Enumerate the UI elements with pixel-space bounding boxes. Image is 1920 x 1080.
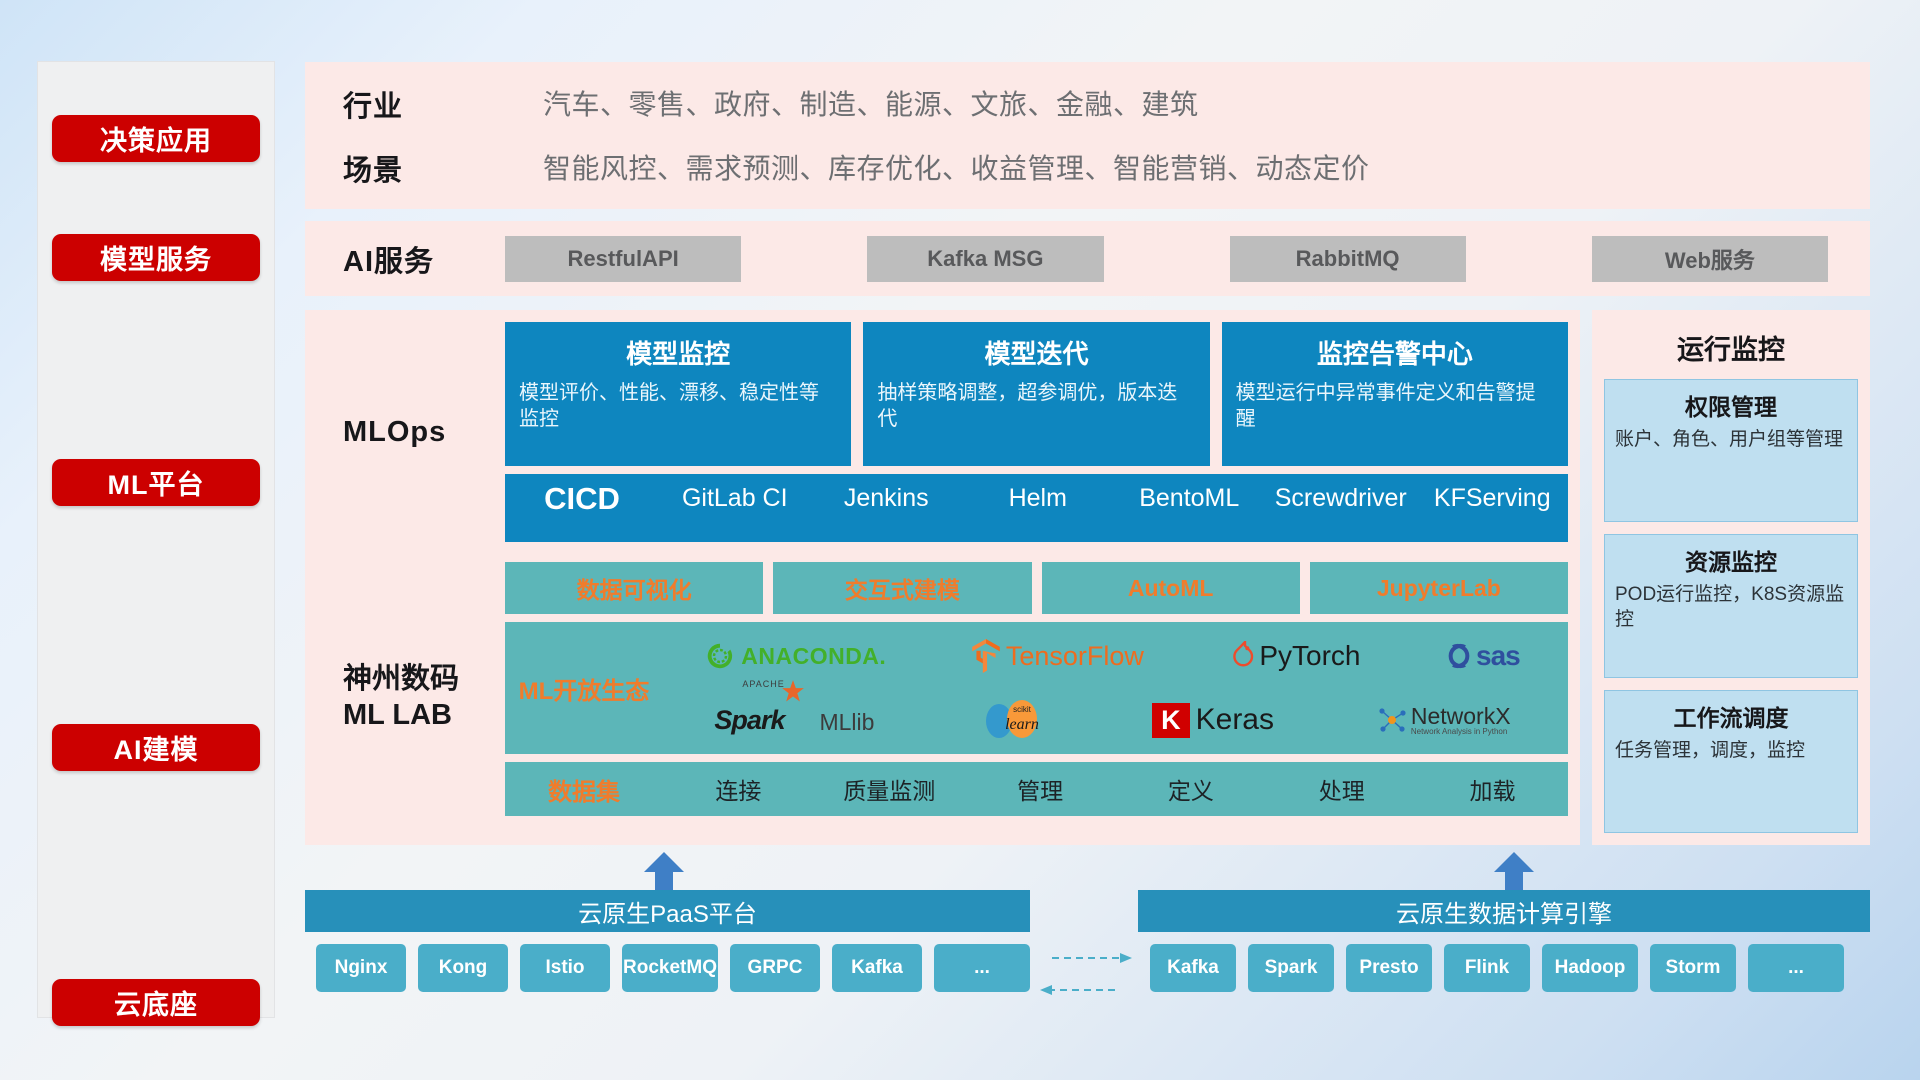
architecture-diagram: 决策应用 模型服务 ML平台 AI建模 云底座 行业 汽车、零售、政府、制造、能… [0, 0, 1920, 1080]
data-chip-presto[interactable]: Presto [1346, 944, 1432, 992]
ml-lab-band: 神州数码 ML LAB 数据可视化 交互式建模 AutoML JupyterLa… [305, 552, 1580, 845]
card-title: 工作流调度 [1615, 699, 1847, 733]
industry-value: 汽车、零售、政府、制造、能源、文旅、金融、建筑 [543, 83, 1870, 125]
cicd-item-gitlab-ci[interactable]: GitLab CI [659, 482, 811, 515]
cicd-item-helm[interactable]: Helm [962, 482, 1114, 515]
card-title: 权限管理 [1615, 388, 1847, 422]
card-desc: 任务管理，调度，监控 [1615, 739, 1847, 764]
rail-item-model-service[interactable]: 模型服务 [52, 234, 260, 281]
ml-open-ecosystem: ML开放生态 ANACONDA. TensorFlow [505, 622, 1568, 754]
ai-service-label: AI服务 [343, 238, 505, 280]
tensorflow-logo-icon: TensorFlow [971, 639, 1144, 673]
ai-service-box-web-service[interactable]: Web服务 [1592, 236, 1828, 282]
data-chip-kafka[interactable]: Kafka [1150, 944, 1236, 992]
scene-value: 智能风控、需求预测、库存优化、收益管理、智能营销、动态定价 [543, 147, 1870, 189]
card-desc: 模型评价、性能、漂移、稳定性等监控 [519, 380, 837, 432]
dataset-row: 数据集 连接 质量监测 管理 定义 处理 加载 [505, 762, 1568, 816]
cicd-item-screwdriver[interactable]: Screwdriver [1265, 482, 1417, 515]
ml-lab-label: 神州数码 ML LAB [343, 562, 505, 833]
monitoring-card-resource[interactable]: 资源监控 POD运行监控，K8S资源监控 [1604, 534, 1858, 677]
paas-chip-row: Nginx Kong Istio RocketMQ GRPC Kafka ... [316, 944, 1030, 992]
mlops-card-alert-center[interactable]: 监控告警中心 模型运行中异常事件定义和告警提醒 [1222, 322, 1568, 466]
card-title: 资源监控 [1615, 543, 1847, 577]
svg-text:scikit: scikit [1013, 705, 1032, 714]
mlops-band: MLOps 模型监控 模型评价、性能、漂移、稳定性等监控 模型迭代 抽样策略调整… [305, 310, 1580, 552]
ml-lab-label-line2: ML LAB [343, 699, 452, 731]
anaconda-logo-icon: ANACONDA. [705, 641, 886, 671]
dataset-item-quality-monitoring[interactable]: 质量监测 [814, 772, 965, 806]
rail-item-ml-platform[interactable]: ML平台 [52, 459, 260, 506]
ml-lab-label-line1: 神州数码 [343, 663, 459, 695]
lab-tool-interactive-modeling[interactable]: 交互式建模 [773, 562, 1031, 614]
card-title: 模型监控 [626, 334, 730, 371]
cloud-data-engine-bar[interactable]: 云原生数据计算引擎 [1138, 890, 1870, 932]
rail-item-decision-apps[interactable]: 决策应用 [52, 115, 260, 162]
runtime-monitoring-panel: 运行监控 权限管理 账户、角色、用户组等管理 资源监控 POD运行监控，K8S资… [1592, 310, 1870, 845]
sas-logo-icon: sas [1445, 640, 1520, 672]
logo-row-2: APACHE Spark MLlib [663, 689, 1562, 751]
card-title: 模型迭代 [984, 334, 1088, 371]
data-chip-spark[interactable]: Spark [1248, 944, 1334, 992]
data-chip-flink[interactable]: Flink [1444, 944, 1530, 992]
monitoring-card-workflow[interactable]: 工作流调度 任务管理，调度，监控 [1604, 690, 1858, 833]
scene-label: 场景 [343, 147, 543, 189]
up-arrow-paas-icon [644, 852, 684, 894]
rail-item-ai-modeling[interactable]: AI建模 [52, 724, 260, 771]
ml-open-ecosystem-title: ML开放生态 [505, 671, 663, 706]
card-desc: 模型运行中异常事件定义和告警提醒 [1236, 380, 1554, 432]
ai-service-band: AI服务 RestfulAPI Kafka MSG RabbitMQ Web服务 [305, 221, 1870, 296]
cicd-item-kfserving[interactable]: KFServing [1417, 482, 1569, 515]
monitoring-card-permission[interactable]: 权限管理 账户、角色、用户组等管理 [1604, 379, 1858, 522]
svg-text:learn: learn [1005, 716, 1039, 733]
dataset-item-load[interactable]: 加载 [1417, 772, 1568, 806]
paas-chip-more[interactable]: ... [934, 944, 1030, 992]
decision-apps-band: 行业 汽车、零售、政府、制造、能源、文旅、金融、建筑 场景 智能风控、需求预测、… [305, 62, 1870, 209]
lab-tool-automl[interactable]: AutoML [1042, 562, 1300, 614]
cicd-title: CICD [505, 482, 659, 516]
paas-chip-rocketmq[interactable]: RocketMQ [622, 944, 718, 992]
dataset-item-manage[interactable]: 管理 [965, 772, 1116, 806]
data-engine-chip-row: Kafka Spark Presto Flink Hadoop Storm ..… [1150, 944, 1844, 992]
card-desc: 抽样策略调整，超参调优，版本迭代 [877, 380, 1195, 432]
data-chip-storm[interactable]: Storm [1650, 944, 1736, 992]
cicd-item-bentoml[interactable]: BentoML [1114, 482, 1266, 515]
paas-chip-kong[interactable]: Kong [418, 944, 508, 992]
ai-service-box-kafka-msg[interactable]: Kafka MSG [867, 236, 1103, 282]
cloud-paas-bar[interactable]: 云原生PaaS平台 [305, 890, 1030, 932]
card-desc: 账户、角色、用户组等管理 [1615, 428, 1847, 453]
ai-service-box-rabbitmq[interactable]: RabbitMQ [1230, 236, 1466, 282]
mlops-card-model-iteration[interactable]: 模型迭代 抽样策略调整，超参调优，版本迭代 [863, 322, 1209, 466]
dataset-item-define[interactable]: 定义 [1115, 772, 1266, 806]
dataset-item-connect[interactable]: 连接 [663, 772, 814, 806]
lab-tool-data-visualization[interactable]: 数据可视化 [505, 562, 763, 614]
up-arrow-data-engine-icon [1494, 852, 1534, 894]
networkx-logo-icon: NetworkX Network Analysis in Python [1377, 705, 1511, 736]
dataset-title: 数据集 [505, 772, 663, 807]
card-desc: POD运行监控，K8S资源监控 [1615, 583, 1847, 632]
data-chip-hadoop[interactable]: Hadoop [1542, 944, 1638, 992]
cicd-row: CICD GitLab CI Jenkins Helm BentoML Scre… [505, 474, 1568, 542]
runtime-monitoring-title: 运行监控 [1604, 320, 1858, 379]
keras-logo-icon: K Keras [1152, 703, 1274, 738]
scikit-learn-logo-icon: scikit learn [977, 697, 1049, 743]
cicd-item-jenkins[interactable]: Jenkins [811, 482, 963, 515]
lab-tool-jupyterlab[interactable]: JupyterLab [1310, 562, 1568, 614]
paas-chip-istio[interactable]: Istio [520, 944, 610, 992]
left-rail: 决策应用 模型服务 ML平台 AI建模 云底座 [38, 62, 274, 1017]
bidirectional-connector-icon [1040, 944, 1132, 1004]
industry-label: 行业 [343, 83, 543, 125]
ai-service-box-restfulapi[interactable]: RestfulAPI [505, 236, 741, 282]
pytorch-logo-icon: PyTorch [1228, 640, 1360, 672]
data-chip-more[interactable]: ... [1748, 944, 1844, 992]
rail-item-cloud-base[interactable]: 云底座 [52, 979, 260, 1026]
card-title: 监控告警中心 [1317, 334, 1473, 371]
paas-chip-kafka[interactable]: Kafka [832, 944, 922, 992]
mlops-card-model-monitoring[interactable]: 模型监控 模型评价、性能、漂移、稳定性等监控 [505, 322, 851, 466]
paas-chip-nginx[interactable]: Nginx [316, 944, 406, 992]
spark-mllib-logo-icon: APACHE Spark MLlib [714, 705, 874, 736]
mlops-label: MLOps [343, 322, 505, 542]
paas-chip-grpc[interactable]: GRPC [730, 944, 820, 992]
dataset-item-process[interactable]: 处理 [1266, 772, 1417, 806]
